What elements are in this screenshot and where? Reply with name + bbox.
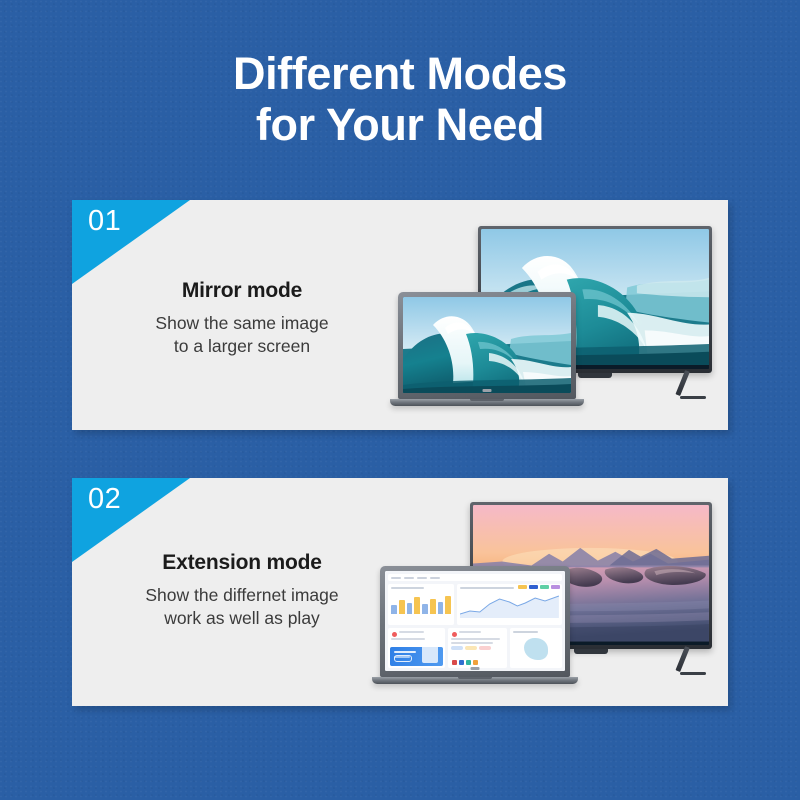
bar-chart (391, 592, 451, 614)
mode-card-mirror: 01 Mirror mode Show the same image to a … (72, 200, 728, 430)
legend-chip (540, 585, 549, 589)
region-shape (524, 638, 548, 660)
widget-title (391, 587, 424, 589)
laptop (380, 566, 570, 684)
text-line (391, 638, 425, 640)
page-title-line-1: Different Modes (0, 48, 800, 99)
tv-stand-leg (675, 370, 689, 396)
laptop-screen (403, 297, 571, 393)
dashboard-row-bottom (388, 628, 562, 669)
device-scene (398, 478, 728, 706)
tag (465, 646, 477, 650)
card-subtext-line-2: to a larger screen (72, 335, 412, 357)
poster-canvas: Different Modes for Your Need 01 Mirror … (0, 0, 800, 800)
legend-chip (529, 585, 538, 589)
text-line (451, 642, 493, 644)
toolbar-item (391, 577, 401, 579)
page-title-line-2: for Your Need (0, 99, 800, 150)
bar-chart-widget (388, 584, 454, 625)
tv-chin (578, 373, 612, 378)
card-text-block: Mirror mode Show the same image to a lar… (72, 278, 412, 357)
bar (445, 596, 451, 614)
tv-stand-foot (680, 396, 706, 399)
mode-card-extension: 02 Extension mode Show the differnet ima… (72, 478, 728, 706)
toolbar-item (417, 577, 427, 579)
laptop-brand-logo (483, 389, 492, 392)
dashboard-row-top (388, 584, 562, 625)
dashboard-toolbar (388, 574, 562, 581)
legend (518, 585, 560, 589)
map-widget (510, 628, 562, 669)
bar (391, 605, 397, 614)
text-line (451, 638, 499, 640)
card-heading: Mirror mode (72, 278, 412, 303)
bar (407, 603, 413, 614)
app-icon (452, 660, 457, 665)
legend-chip (518, 585, 527, 589)
bar (399, 600, 405, 614)
card-subtext-line-1: Show the differnet image (72, 584, 412, 606)
bar (422, 604, 428, 614)
corner-badge-01: 01 (72, 200, 190, 284)
app-icon (473, 660, 478, 665)
social-icon-row (452, 660, 478, 665)
card-subtext-line-2: work as well as play (72, 607, 412, 629)
badge-number: 02 (88, 485, 121, 514)
alert-icon (392, 632, 397, 637)
card-heading: Extension mode (72, 550, 412, 575)
badge-number: 01 (88, 207, 121, 236)
card-subtext-line-1: Show the same image (72, 312, 412, 334)
ocean-wave-image-mirrored (403, 297, 571, 393)
laptop-trackpad-notch (470, 399, 504, 401)
tv-stand-foot (680, 672, 706, 675)
promo-widget (388, 628, 445, 669)
bar (430, 599, 436, 614)
tv-stand-leg (675, 646, 689, 672)
laptop-lid (398, 292, 576, 399)
promo-banner[interactable] (390, 647, 443, 666)
promo-button[interactable] (394, 655, 412, 662)
toolbar-item (404, 577, 414, 579)
device-scene (398, 200, 728, 430)
text-line (399, 631, 424, 633)
tag-row (451, 646, 503, 650)
tv-chin (574, 649, 608, 654)
laptop-trackpad-notch (458, 677, 492, 679)
text-line (459, 631, 481, 633)
promo-illustration (422, 647, 438, 663)
line-chart-svg (460, 592, 559, 618)
tag (451, 646, 463, 650)
line-chart (460, 592, 559, 618)
app-icon (459, 660, 464, 665)
notice-widget (448, 628, 506, 669)
laptop (398, 292, 576, 406)
bar (414, 597, 420, 614)
laptop-screen (385, 571, 565, 671)
legend-chip (551, 585, 560, 589)
tag (479, 646, 491, 650)
analytics-dashboard (385, 571, 565, 671)
line-chart-widget (457, 584, 562, 625)
alert-icon (452, 632, 457, 637)
widget-title (513, 631, 538, 633)
card-subtext: Show the same image to a larger screen (72, 312, 412, 357)
laptop-brand-logo (471, 667, 480, 670)
laptop-base (372, 677, 578, 684)
card-subtext: Show the differnet image work as well as… (72, 584, 412, 629)
promo-line (394, 651, 416, 653)
card-text-block: Extension mode Show the differnet image … (72, 550, 412, 629)
bar (438, 602, 444, 614)
laptop-lid (380, 566, 570, 677)
widget-title (460, 587, 514, 589)
app-icon (466, 660, 471, 665)
laptop-base (390, 399, 584, 406)
page-title: Different Modes for Your Need (0, 48, 800, 151)
toolbar-item (430, 577, 440, 579)
